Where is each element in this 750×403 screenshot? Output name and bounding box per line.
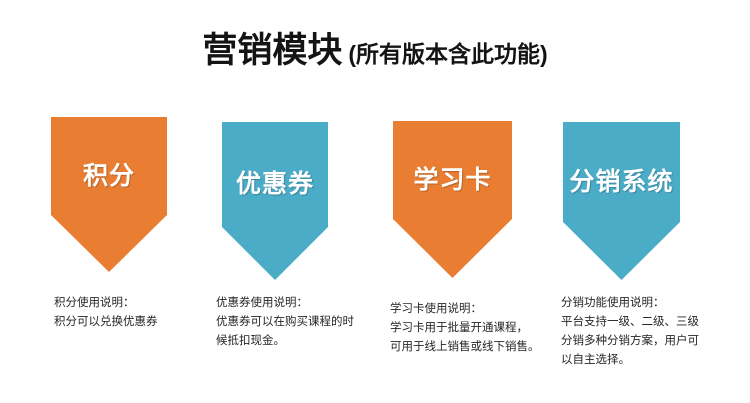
- banner-1[interactable]: 积分: [51, 117, 167, 272]
- caption-3-line-1: 学习卡使用说明：: [390, 300, 540, 319]
- banner-shape-3: [393, 121, 512, 278]
- banner-label-3: 学习卡: [393, 160, 512, 196]
- caption-4-line-4: 以自主选择。: [561, 351, 699, 370]
- page-title-subtitle: (所有版本含此功能): [348, 41, 547, 67]
- caption-1-line-1: 积分使用说明：: [54, 294, 158, 313]
- caption-4-line-3: 分销多种分销方案，用户可: [561, 332, 699, 351]
- banner-4[interactable]: 分销系统: [563, 122, 680, 280]
- caption-3-line-3: 可用于线上销售或线下销售。: [390, 338, 540, 357]
- banner-shape-1: [51, 117, 167, 272]
- banner-3[interactable]: 学习卡: [393, 121, 512, 278]
- banner-label-2: 优惠券: [222, 164, 328, 200]
- caption-1-line-2: 积分可以兑换优惠券: [54, 313, 158, 332]
- banner-polygon: [222, 122, 328, 280]
- banner-polygon: [393, 121, 512, 278]
- banner-2[interactable]: 优惠券: [222, 122, 328, 280]
- caption-2-line-3: 候抵扣现金。: [216, 332, 354, 351]
- banner-shape-2: [222, 122, 328, 280]
- banner-polygon: [563, 122, 680, 280]
- banner-polygon: [51, 117, 167, 272]
- caption-2-line-1: 优惠券使用说明：: [216, 294, 354, 313]
- caption-3-line-2: 学习卡用于批量开通课程，: [390, 319, 540, 338]
- banner-label-4: 分销系统: [563, 162, 680, 198]
- caption-1: 积分使用说明：积分可以兑换优惠券: [54, 294, 158, 332]
- caption-4-line-1: 分销功能使用说明：: [561, 294, 699, 313]
- caption-3: 学习卡使用说明：学习卡用于批量开通课程，可用于线上销售或线下销售。: [390, 300, 540, 357]
- caption-2: 优惠券使用说明：优惠券可以在购买课程的时候抵扣现金。: [216, 294, 354, 351]
- caption-4-line-2: 平台支持一级、二级、三级: [561, 313, 699, 332]
- page-title: 营销模块(所有版本含此功能): [0, 22, 750, 73]
- banner-label-1: 积分: [51, 156, 167, 192]
- page-title-main: 营销模块: [202, 31, 342, 70]
- slide-canvas: 营销模块(所有版本含此功能) 积分优惠券学习卡分销系统 积分使用说明：积分可以兑…: [0, 0, 750, 403]
- caption-4: 分销功能使用说明：平台支持一级、二级、三级分销多种分销方案，用户可以自主选择。: [561, 294, 699, 370]
- caption-2-line-2: 优惠券可以在购买课程的时: [216, 313, 354, 332]
- banner-shape-4: [563, 122, 680, 280]
